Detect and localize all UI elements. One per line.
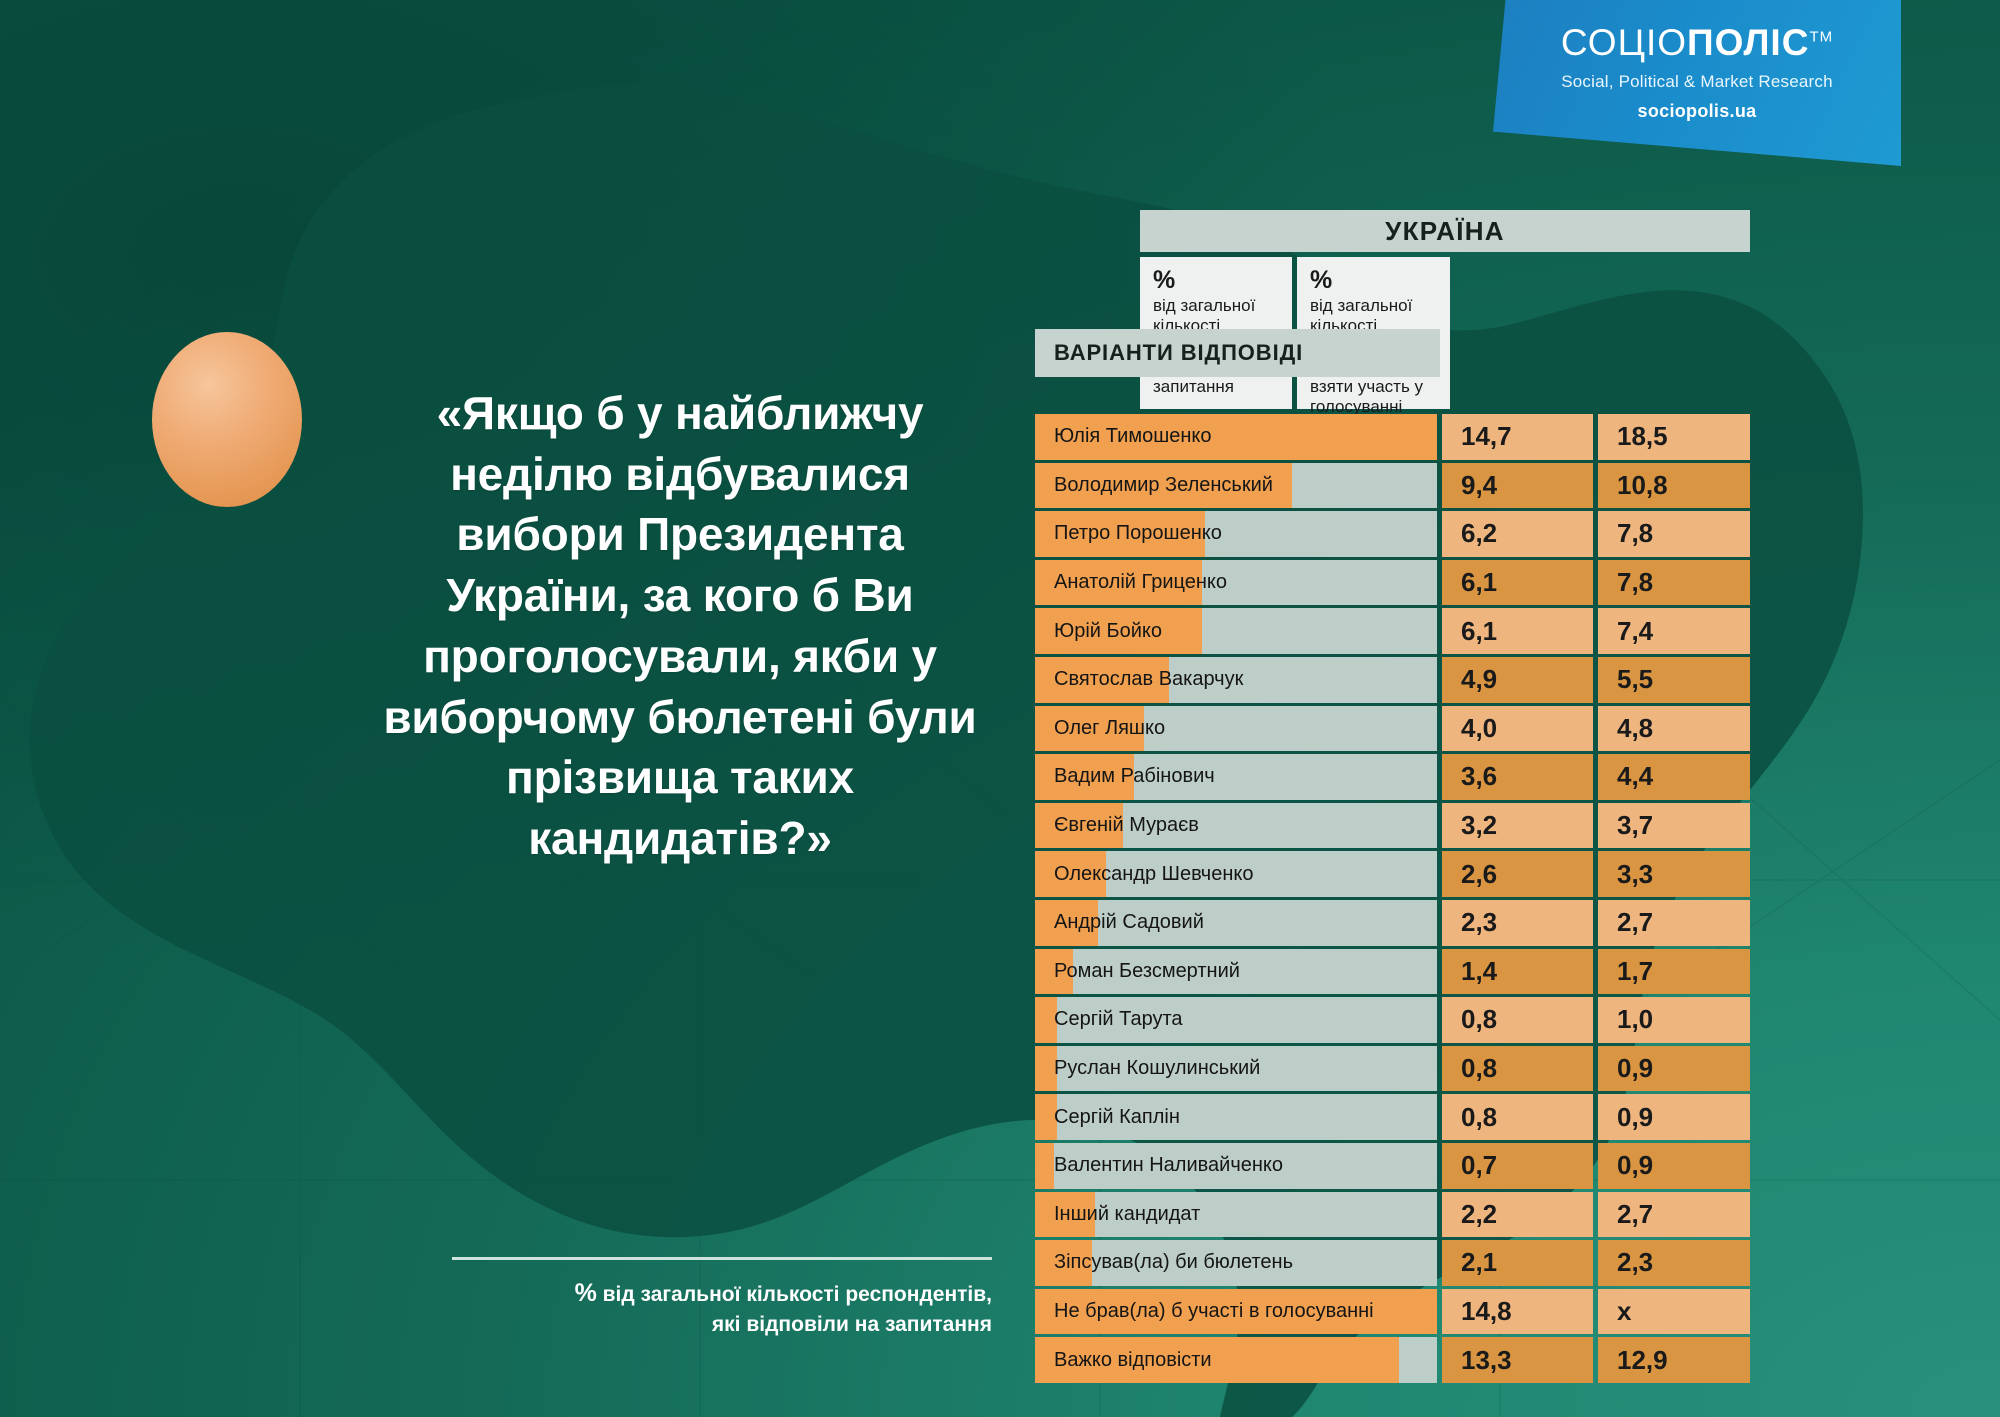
cell-answer-option: Важко відповісти: [1035, 1337, 1437, 1383]
table-row: Анатолій Гриценко6,17,8: [1035, 560, 1750, 606]
cell-value-voters: 18,5: [1598, 414, 1750, 460]
cell-value-answered: 13,3: [1442, 1337, 1593, 1383]
cell-value-answered: 0,8: [1442, 1046, 1593, 1092]
cell-value-answered: 6,2: [1442, 511, 1593, 557]
answer-option-label: Сергій Каплін: [1035, 1106, 1180, 1129]
cell-value-voters: 0,9: [1598, 1046, 1750, 1092]
infographic-canvas: «Якщо б у найближчу неділю відбувалися в…: [0, 0, 2000, 1417]
table-row: Вадим Рабінович3,64,4: [1035, 754, 1750, 800]
cell-value-answered: 14,7: [1442, 414, 1593, 460]
answer-option-label: Не брав(ла) б участі в голосуванні: [1035, 1300, 1374, 1323]
percent-symbol-icon: %: [1310, 267, 1440, 295]
table-row: Не брав(ла) б участі в голосуванні14,8x: [1035, 1289, 1750, 1335]
cell-answer-option: Юрій Бойко: [1035, 608, 1437, 654]
answer-option-label: Зіпсував(ла) би бюлетень: [1035, 1251, 1293, 1274]
cell-value-answered: 2,1: [1442, 1240, 1593, 1286]
cell-answer-option: Євгеній Мураєв: [1035, 803, 1437, 849]
table-row: Святослав Вакарчук4,95,5: [1035, 657, 1750, 703]
footnote-block: % від загальної кількості респондентів, …: [452, 1257, 992, 1339]
table-row: Олег Ляшко4,04,8: [1035, 706, 1750, 752]
cell-answer-option: Сергій Каплін: [1035, 1094, 1437, 1140]
table-row: Юлія Тимошенко14,718,5: [1035, 414, 1750, 460]
cell-answer-option: Олег Ляшко: [1035, 706, 1437, 752]
cell-value-voters: 7,4: [1598, 608, 1750, 654]
cell-value-answered: 2,3: [1442, 900, 1593, 946]
cell-answer-option: Святослав Вакарчук: [1035, 657, 1437, 703]
table-row: Важко відповісти13,312,9: [1035, 1337, 1750, 1383]
cell-value-answered: 2,6: [1442, 851, 1593, 897]
answer-option-label: Юлія Тимошенко: [1035, 425, 1212, 448]
table-row: Інший кандидат2,22,7: [1035, 1192, 1750, 1238]
cell-value-answered: 2,2: [1442, 1192, 1593, 1238]
cell-value-answered: 9,4: [1442, 463, 1593, 509]
cell-value-voters: 0,9: [1598, 1143, 1750, 1189]
answer-option-label: Руслан Кошулинський: [1035, 1057, 1260, 1080]
table-row: Валентин Наливайченко0,70,9: [1035, 1143, 1750, 1189]
cell-value-answered: 14,8: [1442, 1289, 1593, 1335]
cell-value-voters: 2,7: [1598, 900, 1750, 946]
logo-wordmark: СОЦІОПОЛІСTM: [1493, 24, 1901, 61]
accent-circle-decoration: [152, 332, 302, 507]
table-body: Юлія Тимошенко14,718,5Володимир Зеленськ…: [1035, 414, 1750, 1383]
results-table: УКРАЇНА %від загальної кількості респонд…: [1035, 210, 1750, 1383]
answer-option-label: Володимир Зеленський: [1035, 474, 1273, 497]
table-row: Сергій Тарута0,81,0: [1035, 997, 1750, 1043]
cell-value-voters: 7,8: [1598, 511, 1750, 557]
cell-value-voters: 4,4: [1598, 754, 1750, 800]
cell-value-answered: 3,2: [1442, 803, 1593, 849]
cell-value-voters: 7,8: [1598, 560, 1750, 606]
table-row: Юрій Бойко6,17,4: [1035, 608, 1750, 654]
cell-value-answered: 0,8: [1442, 1094, 1593, 1140]
cell-value-voters: 10,8: [1598, 463, 1750, 509]
answer-option-label: Анатолій Гриценко: [1035, 571, 1227, 594]
cell-answer-option: Сергій Тарута: [1035, 997, 1437, 1043]
table-row: Володимир Зеленський9,410,8: [1035, 463, 1750, 509]
answer-option-label: Юрій Бойко: [1035, 620, 1162, 643]
answer-option-label: Олег Ляшко: [1035, 717, 1165, 740]
cell-value-answered: 0,8: [1442, 997, 1593, 1043]
cell-answer-option: Роман Безсмертний: [1035, 949, 1437, 995]
table-row: Зіпсував(ла) би бюлетень2,12,3: [1035, 1240, 1750, 1286]
answer-option-label: Інший кандидат: [1035, 1203, 1200, 1226]
cell-value-voters: 1,7: [1598, 949, 1750, 995]
sociopolis-logo[interactable]: СОЦІОПОЛІСTM Social, Political & Market …: [1493, 24, 1901, 122]
cell-value-voters: 3,7: [1598, 803, 1750, 849]
logo-tagline: Social, Political & Market Research: [1493, 72, 1901, 92]
table-row: Євгеній Мураєв3,23,7: [1035, 803, 1750, 849]
cell-answer-option: Андрій Садовий: [1035, 900, 1437, 946]
cell-answer-option: Володимир Зеленський: [1035, 463, 1437, 509]
cell-value-answered: 0,7: [1442, 1143, 1593, 1189]
footnote-line-2: які відповіли на запитання: [712, 1313, 992, 1336]
cell-answer-option: Руслан Кошулинський: [1035, 1046, 1437, 1092]
percent-symbol-icon: %: [1153, 267, 1282, 295]
logo-word-part2: ПОЛІС: [1687, 22, 1809, 63]
answer-option-label: Святослав Вакарчук: [1035, 668, 1243, 691]
page-title-question: «Якщо б у найближчу неділю відбувалися в…: [360, 383, 1000, 869]
answer-option-label: Сергій Тарута: [1035, 1008, 1183, 1031]
cell-value-answered: 1,4: [1442, 949, 1593, 995]
cell-value-answered: 4,0: [1442, 706, 1593, 752]
cell-value-voters: x: [1598, 1289, 1750, 1335]
table-row: Сергій Каплін0,80,9: [1035, 1094, 1750, 1140]
cell-value-voters: 0,9: [1598, 1094, 1750, 1140]
cell-value-answered: 6,1: [1442, 560, 1593, 606]
cell-answer-option: Анатолій Гриценко: [1035, 560, 1437, 606]
table-row: Руслан Кошулинський0,80,9: [1035, 1046, 1750, 1092]
cell-answer-option: Олександр Шевченко: [1035, 851, 1437, 897]
percent-symbol-icon: %: [575, 1279, 597, 1307]
column-header-answer-options: ВАРІАНТИ ВІДПОВІДІ: [1035, 329, 1440, 377]
footnote-line-1: від загальної кількості респондентів,: [597, 1283, 992, 1306]
trademark-icon: TM: [1809, 29, 1833, 46]
answer-option-label: Олександр Шевченко: [1035, 863, 1253, 886]
cell-answer-option: Валентин Наливайченко: [1035, 1143, 1437, 1189]
answer-option-label: Валентин Наливайченко: [1035, 1154, 1283, 1177]
table-country-header: УКРАЇНА: [1140, 210, 1750, 252]
cell-value-answered: 3,6: [1442, 754, 1593, 800]
cell-value-voters: 5,5: [1598, 657, 1750, 703]
cell-answer-option: Зіпсував(ла) би бюлетень: [1035, 1240, 1437, 1286]
cell-value-voters: 1,0: [1598, 997, 1750, 1043]
logo-word-part1: СОЦІО: [1561, 22, 1687, 63]
table-row: Петро Порошенко6,27,8: [1035, 511, 1750, 557]
cell-value-voters: 2,7: [1598, 1192, 1750, 1238]
cell-value-answered: 6,1: [1442, 608, 1593, 654]
cell-value-voters: 2,3: [1598, 1240, 1750, 1286]
answer-option-label: Важко відповісти: [1035, 1349, 1212, 1372]
answer-option-label: Петро Порошенко: [1035, 522, 1222, 545]
footnote-divider: [452, 1257, 992, 1260]
logo-website[interactable]: sociopolis.ua: [1493, 101, 1901, 122]
cell-value-voters: 12,9: [1598, 1337, 1750, 1383]
cell-value-answered: 4,9: [1442, 657, 1593, 703]
answer-option-label: Євгеній Мураєв: [1035, 814, 1199, 837]
cell-value-voters: 4,8: [1598, 706, 1750, 752]
table-row: Олександр Шевченко2,63,3: [1035, 851, 1750, 897]
table-row: Андрій Садовий2,32,7: [1035, 900, 1750, 946]
answer-option-label: Роман Безсмертний: [1035, 960, 1240, 983]
cell-answer-option: Юлія Тимошенко: [1035, 414, 1437, 460]
cell-answer-option: Вадим Рабінович: [1035, 754, 1437, 800]
table-row: Роман Безсмертний1,41,7: [1035, 949, 1750, 995]
cell-answer-option: Інший кандидат: [1035, 1192, 1437, 1238]
answer-option-label: Вадим Рабінович: [1035, 765, 1215, 788]
cell-value-voters: 3,3: [1598, 851, 1750, 897]
cell-answer-option: Петро Порошенко: [1035, 511, 1437, 557]
footnote-text: % від загальної кількості респондентів, …: [452, 1276, 992, 1339]
answer-option-label: Андрій Садовий: [1035, 911, 1204, 934]
cell-answer-option: Не брав(ла) б участі в голосуванні: [1035, 1289, 1437, 1335]
